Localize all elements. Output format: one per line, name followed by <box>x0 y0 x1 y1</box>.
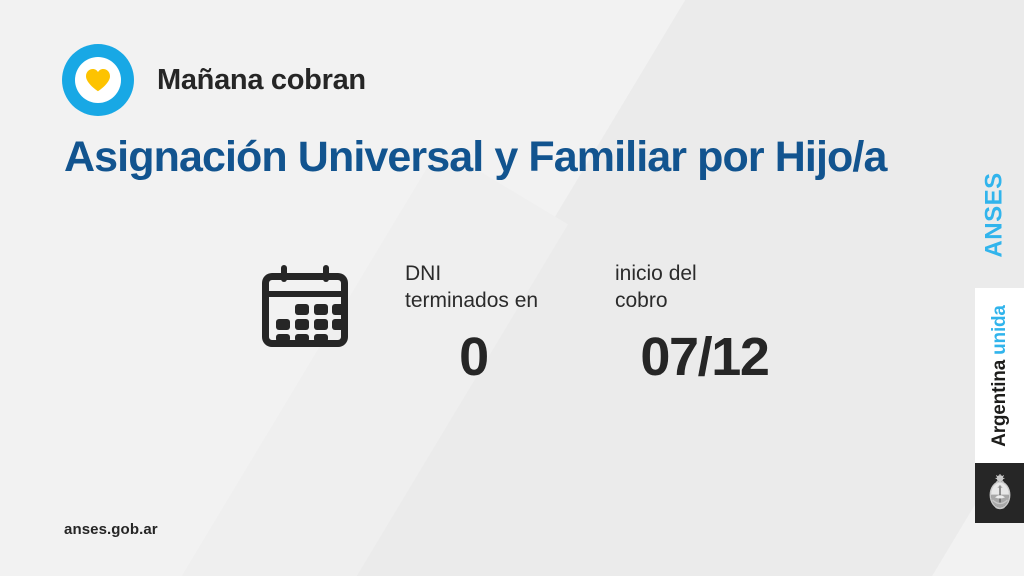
poster-canvas: Mañana cobran Asignación Universal y Fam… <box>0 0 1024 576</box>
coat-of-arms-block <box>975 463 1024 523</box>
dni-column: DNI terminados en 0 <box>405 261 570 384</box>
right-rail: ANSES Argentina unida <box>966 0 1024 576</box>
anses-logo <box>62 44 134 116</box>
fecha-column: inicio del cobro 07/12 <box>615 261 800 384</box>
heart-icon <box>85 68 111 92</box>
dni-value: 0 <box>405 330 570 384</box>
argentina-coat-of-arms-icon <box>985 474 1015 512</box>
argentina-unida-text: Argentina unida <box>989 305 1011 447</box>
anses-brand-vertical: ANSES <box>966 150 1024 280</box>
info-block: DNI terminados en 0 inicio del cobro 07/… <box>262 261 800 384</box>
argentina-unida-block: Argentina unida <box>975 288 1024 463</box>
header: Mañana cobran <box>62 44 366 116</box>
slogan-part-argentina: Argentina <box>989 354 1010 446</box>
website-url: anses.gob.ar <box>64 521 158 538</box>
dni-label: DNI terminados en <box>405 261 570 314</box>
slogan-part-unida: unida <box>989 305 1010 355</box>
page-title: Asignación Universal y Familiar por Hijo… <box>64 133 886 182</box>
logo-inner-circle <box>75 57 121 103</box>
calendar-icon <box>262 265 348 347</box>
eyebrow-text: Mañana cobran <box>157 64 366 97</box>
fecha-label: inicio del cobro <box>615 261 800 314</box>
fecha-value: 07/12 <box>615 330 800 384</box>
anses-brand-text: ANSES <box>981 172 1009 257</box>
